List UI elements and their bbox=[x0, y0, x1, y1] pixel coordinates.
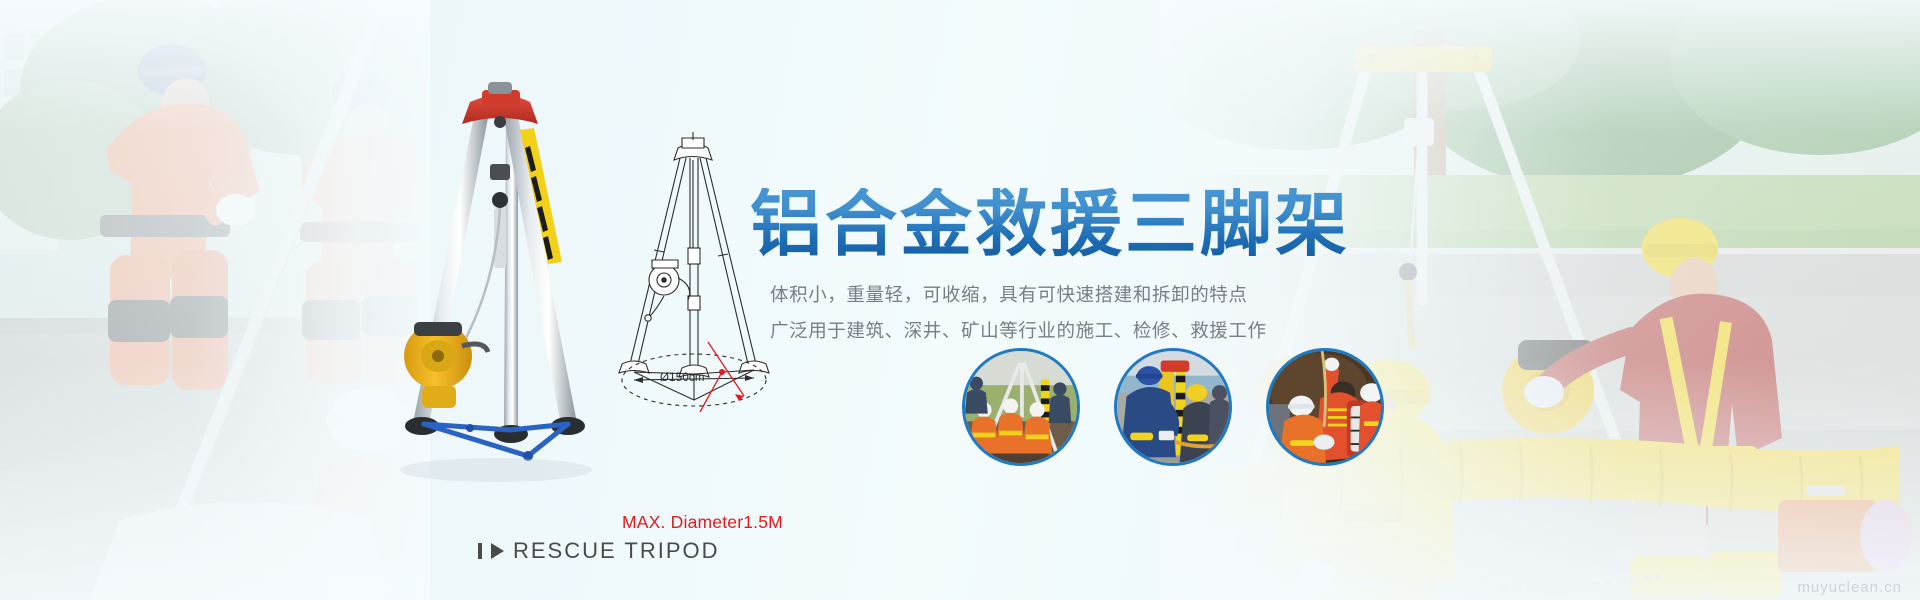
play-triangle-icon bbox=[491, 543, 504, 559]
subtitle-line-1: 体积小，重量轻，可收缩，具有可快速搭建和拆卸的特点 bbox=[770, 281, 1248, 307]
page-title: 铝合金救援三脚架 bbox=[750, 188, 1350, 260]
thumbnail-1-art bbox=[965, 351, 1077, 463]
subtitle-line-2: 广泛用于建筑、深井、矿山等行业的施工、检修、救援工作 bbox=[770, 317, 1267, 343]
right-photo-fade-vertical bbox=[1160, 0, 1920, 600]
dimension-label: Ø150cm bbox=[660, 372, 705, 384]
product-photo-art bbox=[378, 78, 628, 498]
watermark: muyuclean.cn bbox=[1797, 579, 1902, 596]
thumbnail-worker-inspection-site[interactable] bbox=[1114, 348, 1232, 466]
product-banner: RESCUE TRIPOD bbox=[0, 0, 1920, 600]
left-background-photo bbox=[0, 0, 430, 600]
thumbnail-rescue-team-field-tripod[interactable] bbox=[962, 348, 1080, 466]
product-photo bbox=[378, 78, 628, 498]
thumbnail-2-art bbox=[1117, 351, 1229, 463]
thumbnail-confined-space-rescue[interactable] bbox=[1266, 348, 1384, 466]
thumbnail-3-art bbox=[1269, 351, 1381, 463]
product-caption: RESCUE TRIPOD bbox=[478, 538, 720, 564]
thumbnail-gallery bbox=[962, 348, 1384, 466]
right-background-photo bbox=[1160, 0, 1920, 600]
left-photo-fade-vertical bbox=[0, 0, 430, 600]
max-diameter-note: MAX. Diameter1.5M bbox=[622, 512, 783, 533]
play-triangle-icon-bar bbox=[478, 543, 482, 559]
product-caption-label: RESCUE TRIPOD bbox=[513, 538, 720, 564]
